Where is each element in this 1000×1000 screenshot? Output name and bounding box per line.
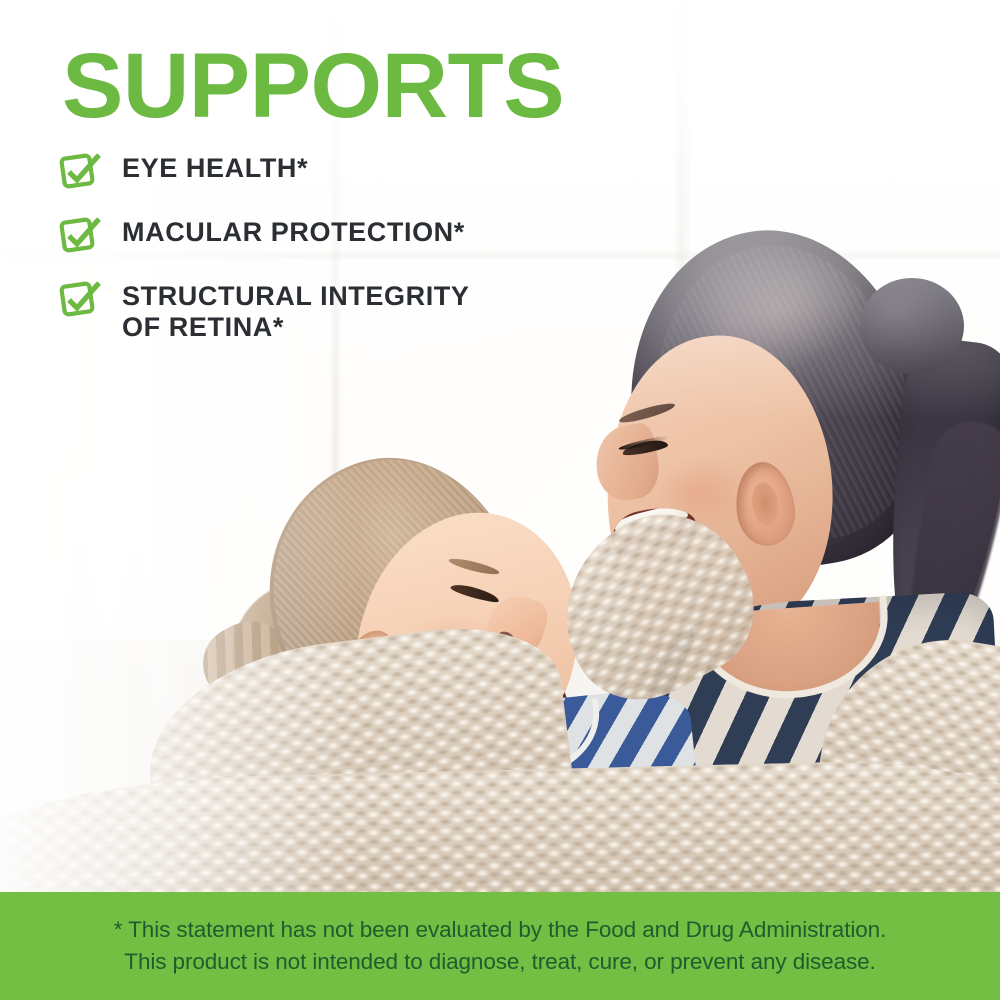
disclaimer-band: * This statement has not been evaluated … [0, 892, 1000, 1000]
list-item: STRUCTURAL INTEGRITY OF RETINA* [58, 276, 618, 344]
page-title: SUPPORTS [62, 40, 564, 132]
list-item: EYE HEALTH* [58, 148, 618, 194]
check-diamond-icon [58, 150, 102, 194]
list-item: MACULAR PROTECTION* [58, 212, 618, 258]
disclaimer-line-2: This product is not intended to diagnose… [124, 946, 875, 978]
benefit-list: EYE HEALTH* MACULAR PROTECTION* [58, 148, 618, 344]
disclaimer-line-1: * This statement has not been evaluated … [114, 914, 886, 946]
benefit-content: SUPPORTS EYE HEALTH* [0, 0, 1000, 892]
check-diamond-icon [58, 214, 102, 258]
list-item-label: MACULAR PROTECTION* [122, 212, 465, 248]
product-benefit-banner: SUPPORTS EYE HEALTH* [0, 0, 1000, 1000]
list-item-label: EYE HEALTH* [122, 148, 308, 184]
list-item-label: STRUCTURAL INTEGRITY OF RETINA* [122, 276, 470, 344]
check-diamond-icon [58, 278, 102, 322]
